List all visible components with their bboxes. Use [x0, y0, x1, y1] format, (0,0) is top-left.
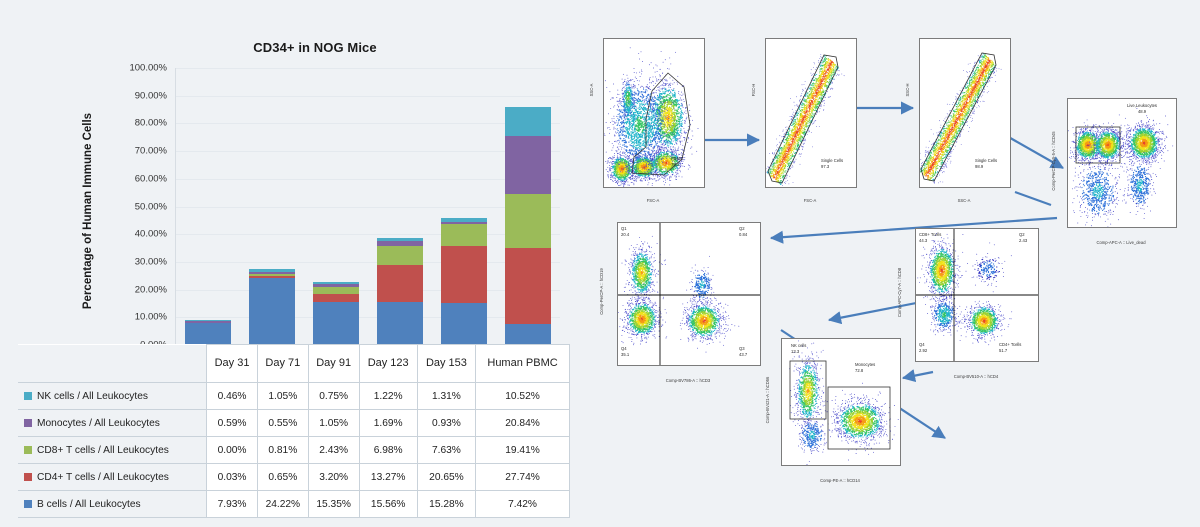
- table-cell: 0.75%: [308, 383, 359, 410]
- data-table-wrapper: Day 31Day 71Day 91Day 123Day 153Human PB…: [18, 344, 570, 518]
- y-tick-label: 100.00%: [129, 63, 167, 74]
- table-cell: 27.74%: [476, 464, 570, 491]
- scatter-dots: [782, 339, 900, 465]
- y-axis-title: Percentage of Human Immune Cells: [82, 71, 94, 351]
- quadrant-label-q4: Q42.92: [919, 342, 927, 353]
- gate-label-single-cells: Single Cells97.3: [821, 158, 843, 169]
- legend-row-label: Monocytes / All Leukocytes: [18, 410, 207, 437]
- bar-segment: [505, 324, 551, 345]
- legend-swatch-icon: [24, 392, 32, 400]
- table-cell: 0.55%: [257, 410, 308, 437]
- bar-segment: [377, 246, 423, 265]
- table-cell: 1.05%: [257, 383, 308, 410]
- plot-box: [603, 38, 705, 188]
- legend-row-label: CD8+ T cells / All Leukocytes: [18, 437, 207, 464]
- quadrant-label-q4: Q435.1: [621, 346, 629, 357]
- legend-swatch-icon: [24, 446, 32, 454]
- y-axis-ticks: 100.00%90.00%80.00%70.00%60.00%50.00%40.…: [105, 68, 173, 345]
- legend-row-label: CD4+ T cells / All Leukocytes: [18, 464, 207, 491]
- bar-slot: [432, 68, 496, 345]
- data-table: Day 31Day 71Day 91Day 123Day 153Human PB…: [18, 344, 570, 518]
- table-cell: 19.41%: [476, 437, 570, 464]
- flow-cytometry-panel: PBMC78.2 FSC-A SSC-A Single Cells97.3 FS…: [585, 0, 1200, 527]
- table-column-header: Day 91: [308, 345, 359, 383]
- y-axis-label: SSC-H: [905, 50, 910, 130]
- table-row: CD4+ T cells / All Leukocytes0.03%0.65%3…: [18, 464, 570, 491]
- bar-segment: [441, 246, 487, 303]
- bar-segment: [505, 136, 551, 194]
- table-row: NK cells / All Leukocytes0.46%1.05%0.75%…: [18, 383, 570, 410]
- table-row: CD8+ T cells / All Leukocytes0.00%0.81%2…: [18, 437, 570, 464]
- quadrant-label-q2: Q22.43: [1019, 232, 1027, 243]
- table-cell: 1.31%: [417, 383, 475, 410]
- table-cell: 3.20%: [308, 464, 359, 491]
- bar-segment: [313, 294, 359, 303]
- table-cell: 7.63%: [417, 437, 475, 464]
- stacked-bar[interactable]: [377, 238, 423, 345]
- table-cell: 1.05%: [308, 410, 359, 437]
- chart-title: CD34+ in NOG Mice: [150, 40, 480, 55]
- scatter-dots: [1068, 99, 1176, 227]
- table-row: Monocytes / All Leukocytes0.59%0.55%1.05…: [18, 410, 570, 437]
- y-tick-label: 40.00%: [135, 229, 167, 240]
- quadrant-label-q1: Q120.4: [621, 226, 629, 237]
- stacked-bar[interactable]: [313, 282, 359, 345]
- scatter-dots: [618, 223, 760, 365]
- y-axis-label: FSC-H: [751, 50, 756, 130]
- table-cell: 1.22%: [359, 383, 417, 410]
- table-corner-cell: [18, 345, 207, 383]
- table-header-row: Day 31Day 71Day 91Day 123Day 153Human PB…: [18, 345, 570, 383]
- table-column-header: Day 31: [207, 345, 258, 383]
- bar-slot: [368, 68, 432, 345]
- gate-label-pbmc: PBMC78.2: [671, 156, 683, 167]
- y-tick-label: 20.00%: [135, 284, 167, 295]
- bar-slot: [496, 68, 560, 345]
- bar-series-group: [176, 68, 560, 345]
- bar-segment: [313, 287, 359, 294]
- bar-segment: [505, 107, 551, 136]
- y-tick-label: 90.00%: [135, 90, 167, 101]
- y-axis-label: SSC-A: [589, 50, 594, 130]
- table-cell: 7.42%: [476, 491, 570, 518]
- plot-box: [765, 38, 857, 188]
- legend-row-label: B cells / All Leukocytes: [18, 491, 207, 518]
- x-axis-label: Comp-BV786-A :: hCD3: [613, 378, 763, 383]
- bar-slot: [304, 68, 368, 345]
- stacked-bar[interactable]: [185, 320, 231, 345]
- table-cell: 0.65%: [257, 464, 308, 491]
- bar-segment: [505, 248, 551, 325]
- gate-label-live-leukocytes: Live,Leukocytes48.9: [1127, 103, 1157, 114]
- bar-segment: [249, 278, 295, 345]
- y-tick-label: 80.00%: [135, 118, 167, 129]
- plot-area: [175, 68, 560, 345]
- table-cell: 0.00%: [207, 437, 258, 464]
- quadrant-label-q2: Q20.84: [739, 226, 747, 237]
- table-cell: 0.81%: [257, 437, 308, 464]
- y-tick-label: 30.00%: [135, 256, 167, 267]
- table-cell: 20.65%: [417, 464, 475, 491]
- table-cell: 0.03%: [207, 464, 258, 491]
- bar-segment: [185, 323, 231, 345]
- x-axis-label: Comp-PE-A :: hCD14: [777, 478, 903, 483]
- bar-segment: [313, 302, 359, 345]
- quadrant-label-cd8: CD8+ Tcells44.3: [919, 232, 941, 243]
- screenshot-root: CD34+ in NOG Mice Percentage of Human Im…: [0, 0, 1200, 527]
- y-axis-label: Comp-BV421-A :: hCD56: [765, 336, 770, 464]
- scatter-dots: [604, 39, 704, 187]
- legend-row-label: NK cells / All Leukocytes: [18, 383, 207, 410]
- plot-box: [781, 338, 901, 466]
- table-cell: 13.27%: [359, 464, 417, 491]
- gate-label-monocytes: Monocytes72.8: [855, 362, 875, 373]
- plot-box: [919, 38, 1011, 188]
- legend-swatch-icon: [24, 419, 32, 427]
- quadrant-label-q3: Q343.7: [739, 346, 747, 357]
- quadrant-label-cd4: CD4+ Tcells51.7: [999, 342, 1021, 353]
- table-cell: 0.93%: [417, 410, 475, 437]
- table-cell: 15.28%: [417, 491, 475, 518]
- table-cell: 1.69%: [359, 410, 417, 437]
- table-cell: 20.84%: [476, 410, 570, 437]
- table-cell: 0.59%: [207, 410, 258, 437]
- bar-segment: [441, 224, 487, 245]
- gate-label-nk-cells: NK cells13.3: [791, 343, 806, 354]
- x-axis-label: FSC-A: [765, 198, 855, 203]
- table-head: Day 31Day 71Day 91Day 123Day 153Human PB…: [18, 345, 570, 383]
- bar-segment: [377, 302, 423, 345]
- plot-wrapper: 100.00%90.00%80.00%70.00%60.00%50.00%40.…: [105, 68, 560, 345]
- y-axis-label: Comp-PerCP-Cy5-5-A :: hCD45: [1051, 96, 1056, 226]
- table-cell: 15.35%: [308, 491, 359, 518]
- y-tick-label: 50.00%: [135, 201, 167, 212]
- table-cell: 2.43%: [308, 437, 359, 464]
- table-row: B cells / All Leukocytes7.93%24.22%15.35…: [18, 491, 570, 518]
- chart-panel: CD34+ in NOG Mice Percentage of Human Im…: [0, 0, 585, 527]
- plot-box: [617, 222, 761, 366]
- bar-segment: [377, 265, 423, 302]
- table-body: NK cells / All Leukocytes0.46%1.05%0.75%…: [18, 383, 570, 518]
- table-column-header: Human PBMC: [476, 345, 570, 383]
- x-axis-label: FSC-A: [603, 198, 703, 203]
- table-cell: 15.56%: [359, 491, 417, 518]
- table-column-header: Day 153: [417, 345, 475, 383]
- table-cell: 10.52%: [476, 383, 570, 410]
- y-tick-label: 10.00%: [135, 312, 167, 323]
- y-axis-label: Comp-PerCP-A :: hCD19: [599, 219, 604, 364]
- bar-segment: [505, 194, 551, 248]
- x-axis-label: Comp-APC-A :: Live_dead: [1061, 240, 1181, 245]
- table-column-header: Day 123: [359, 345, 417, 383]
- bar-slot: [176, 68, 240, 345]
- table-cell: 0.46%: [207, 383, 258, 410]
- stacked-bar[interactable]: [505, 107, 551, 345]
- stacked-bar[interactable]: [249, 269, 295, 345]
- stacked-bar[interactable]: [441, 218, 487, 345]
- bar-slot: [240, 68, 304, 345]
- bar-segment: [441, 303, 487, 345]
- legend-swatch-icon: [24, 473, 32, 481]
- y-tick-label: 70.00%: [135, 146, 167, 157]
- table-cell: 7.93%: [207, 491, 258, 518]
- y-tick-label: 60.00%: [135, 173, 167, 184]
- table-cell: 6.98%: [359, 437, 417, 464]
- x-axis-label: Comp-BV510-A :: hCD4: [911, 374, 1041, 379]
- table-column-header: Day 71: [257, 345, 308, 383]
- gate-label-single-cells: Single Cells98.9: [975, 158, 997, 169]
- table-cell: 24.22%: [257, 491, 308, 518]
- x-axis-label: SSC-A: [919, 198, 1009, 203]
- legend-swatch-icon: [24, 500, 32, 508]
- plot-box: [1067, 98, 1177, 228]
